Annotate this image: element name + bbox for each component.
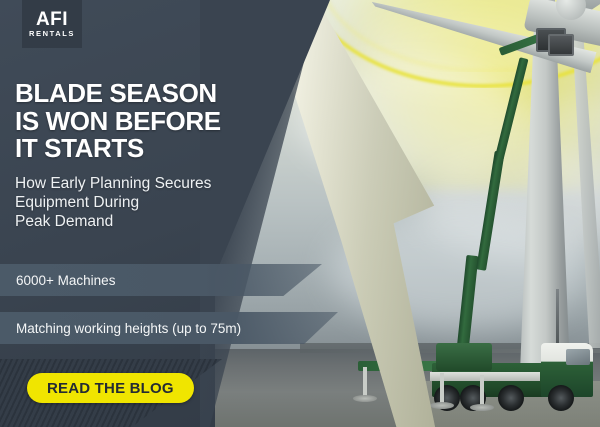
outrigger-leg xyxy=(480,375,484,405)
read-the-blog-button[interactable]: READ THE BLOG xyxy=(27,373,194,403)
boom-turret xyxy=(436,343,492,371)
outrigger-pad xyxy=(430,402,454,409)
feature-bar-working-heights: Matching working heights (up to 75m) xyxy=(0,312,338,344)
feature-bar-machines: 6000+ Machines xyxy=(0,264,322,296)
outrigger-leg xyxy=(440,373,444,403)
headline-line-3: IT STARTS xyxy=(15,135,290,163)
cab-window xyxy=(566,349,590,365)
logo-primary-text: AFI xyxy=(36,10,68,29)
site-pole xyxy=(556,289,559,351)
subheadline-line-2: Equipment During xyxy=(15,194,295,213)
subheadline-line-3: Peak Demand xyxy=(15,213,295,232)
logo-secondary-text: RENTALS xyxy=(29,30,75,38)
headline: BLADE SEASON IS WON BEFORE IT STARTS xyxy=(15,80,290,163)
truck-wheel xyxy=(548,385,574,411)
subheadline: How Early Planning Secures Equipment Dur… xyxy=(15,175,295,232)
afi-rentals-logo[interactable]: AFI RENTALS xyxy=(22,0,82,48)
truck-deck xyxy=(430,372,540,381)
work-platform-basket-secondary xyxy=(548,34,574,56)
feature-bar-label: Matching working heights (up to 75m) xyxy=(16,321,241,336)
outrigger-leg xyxy=(363,367,367,397)
headline-line-1: BLADE SEASON xyxy=(15,80,290,108)
marketing-banner: AFI RENTALS BLADE SEASON IS WON BEFORE I… xyxy=(0,0,600,427)
truck-wheel xyxy=(498,385,524,411)
outrigger-pad xyxy=(470,404,494,411)
feature-bar-label: 6000+ Machines xyxy=(16,273,115,288)
headline-line-2: IS WON BEFORE xyxy=(15,108,290,136)
outrigger-pad xyxy=(353,395,377,402)
cta-label: READ THE BLOG xyxy=(47,380,174,397)
subheadline-line-1: How Early Planning Secures xyxy=(15,175,295,194)
